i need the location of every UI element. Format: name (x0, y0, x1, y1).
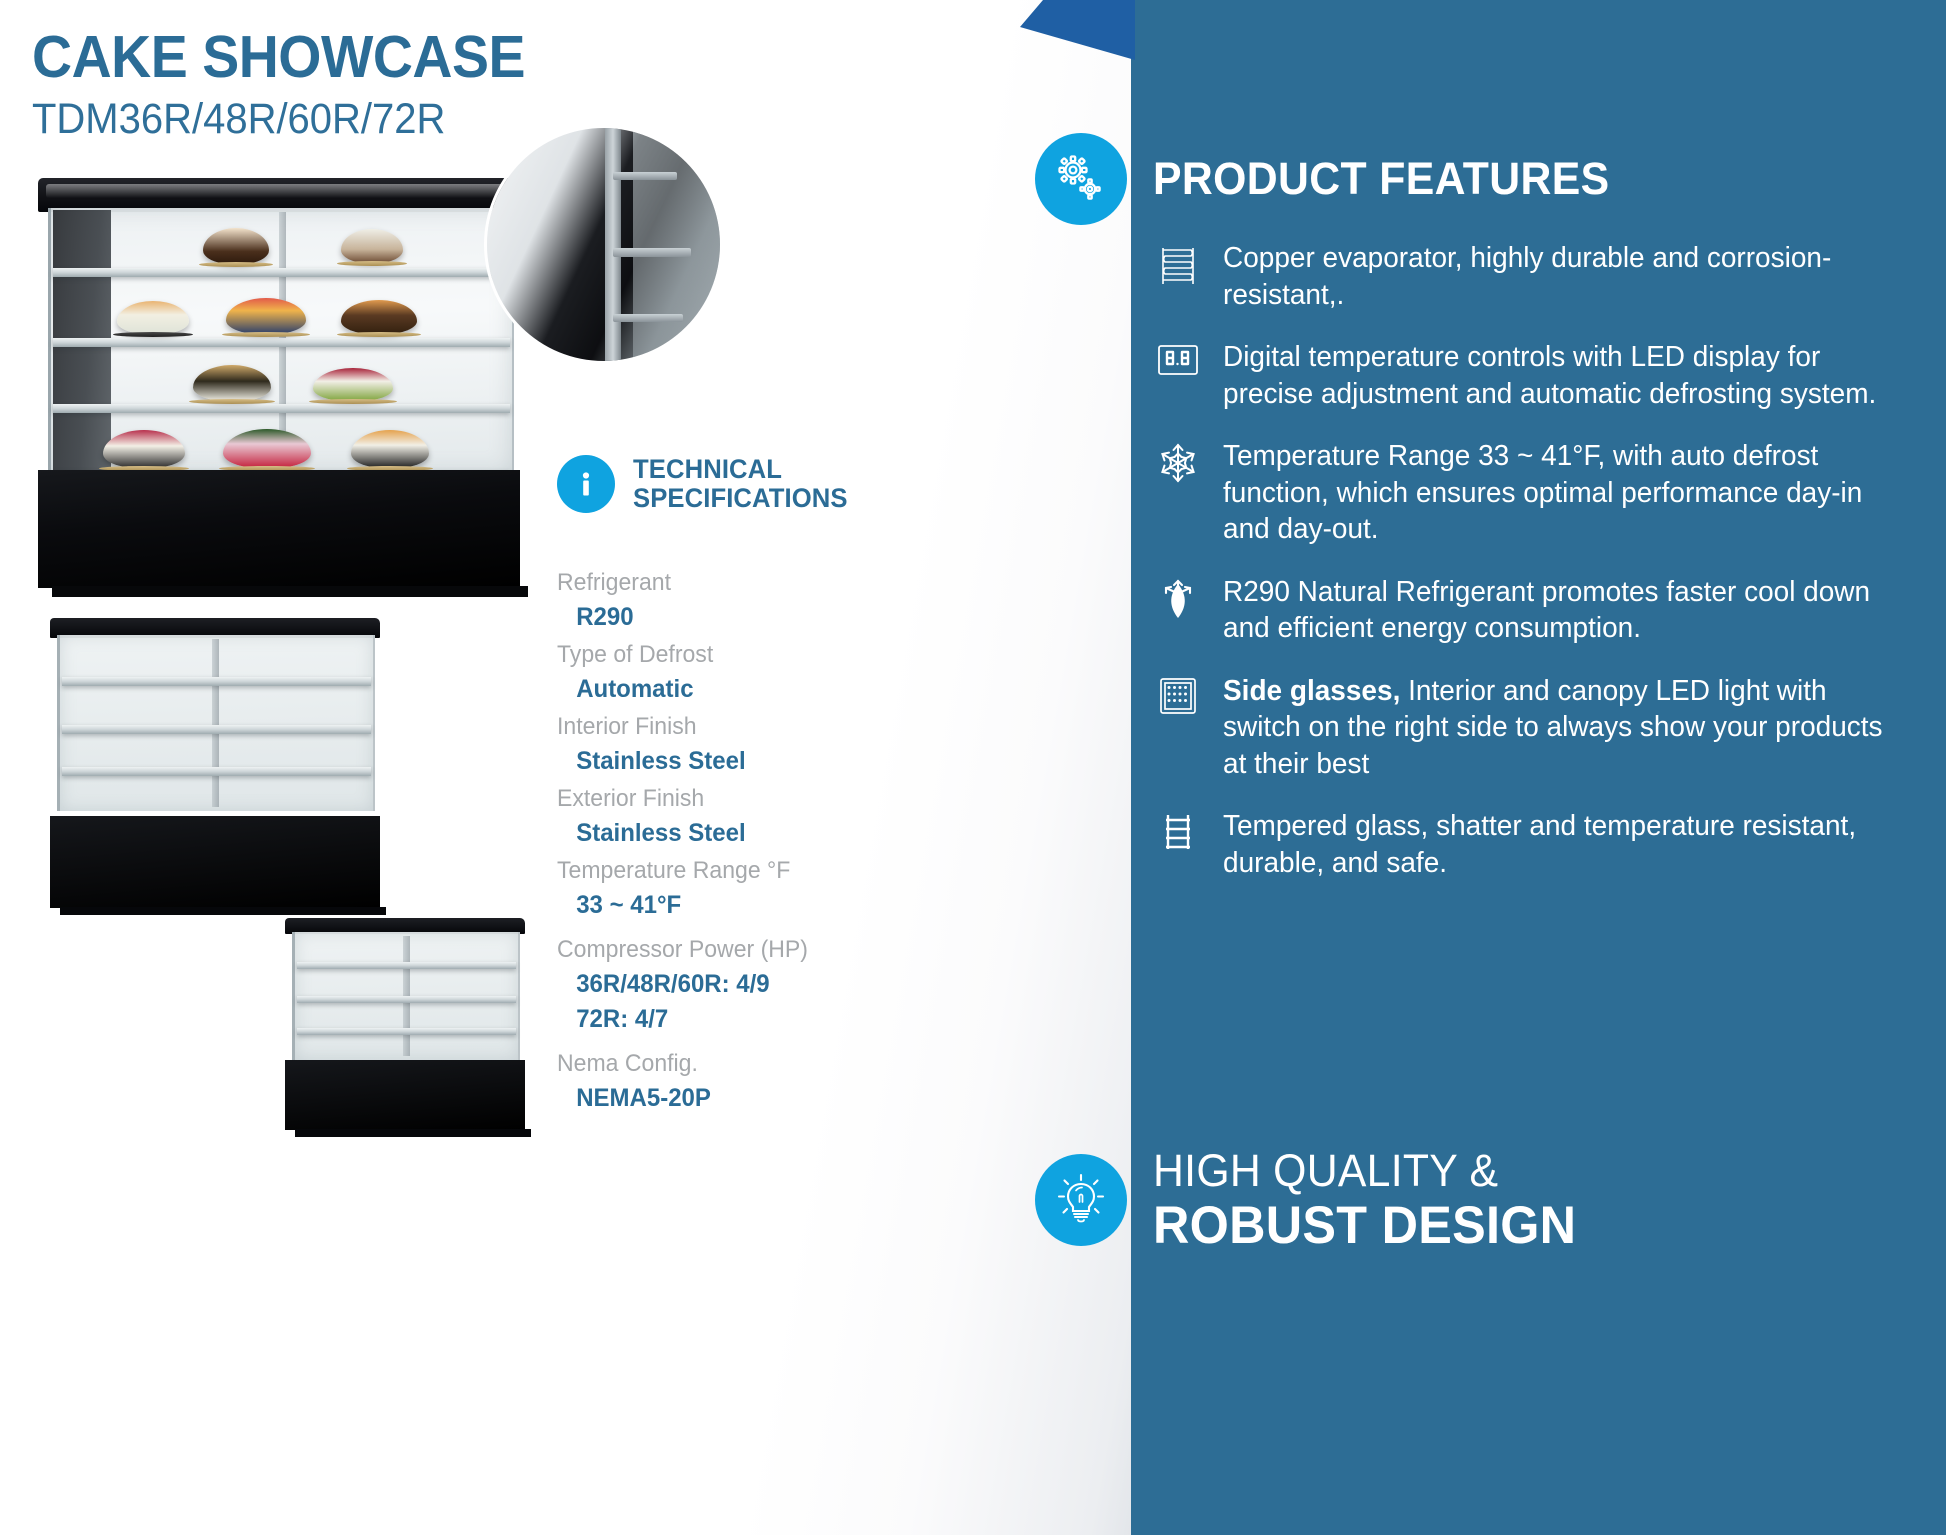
case-shelf (53, 404, 510, 413)
gears-icon (1035, 133, 1127, 225)
cake-plate (113, 332, 193, 337)
cake (313, 368, 393, 401)
shelf-bracket-detail-inset (487, 128, 720, 361)
spec-label: Interior Finish (557, 709, 874, 744)
cake-plate (309, 399, 397, 404)
technical-specifications-title: TECHNICAL SPECIFICATIONS (633, 455, 848, 513)
spec-row: Type of Defrost Automatic (557, 637, 887, 707)
cake (117, 301, 189, 334)
spec-row: Compressor Power (HP) 36R/48R/60R: 4/9 7… (557, 932, 887, 1037)
feature-text: R290 Natural Refrigerant promotes faster… (1223, 574, 1891, 647)
feature-text: Tempered glass, shatter and temperature … (1223, 808, 1891, 881)
spec-row: Exterior Finish Stainless Steel (557, 781, 887, 851)
feature-item: Tempered glass, shatter and temperature … (1155, 808, 1915, 881)
quality-line-1: HIGH QUALITY & (1153, 1148, 1576, 1193)
case-canopy (38, 178, 520, 212)
cake-plate (222, 332, 310, 337)
case-shelf (62, 725, 371, 734)
product-features-header: PRODUCT FEATURES (1035, 133, 1634, 225)
product-features-title: PRODUCT FEATURES (1153, 153, 1610, 205)
lightbulb-icon (1035, 1154, 1127, 1246)
case-base-cabinet (50, 816, 380, 908)
spec-row: Temperature Range °F 33 ~ 41°F (557, 853, 887, 923)
spec-label: Temperature Range °F (557, 853, 874, 888)
cake (341, 229, 403, 263)
spec-value: R290 (557, 600, 874, 635)
feature-item: R290 Natural Refrigerant promotes faster… (1155, 574, 1915, 647)
detail-glass-pane (633, 128, 720, 361)
feature-text-bold: Side glasses, (1223, 675, 1400, 707)
feature-text: Digital temperature controls with LED di… (1223, 339, 1891, 412)
case-shelf (297, 996, 516, 1003)
spec-label: Exterior Finish (557, 781, 874, 816)
case-center-divider (212, 639, 219, 807)
cake-plate (199, 262, 273, 267)
secondary-product-image (50, 618, 380, 908)
spec-value: 36R/48R/60R: 4/9 72R: 4/7 (557, 967, 874, 1037)
case-shelf (297, 962, 516, 969)
cake (103, 430, 185, 468)
quality-text-block: HIGH QUALITY & ROBUST DESIGN (1153, 1148, 1599, 1252)
technical-specifications-section: TECHNICAL SPECIFICATIONS Refrigerant R29… (557, 455, 887, 1118)
hero-product-image (38, 178, 520, 588)
case-base-cabinet (38, 470, 520, 588)
snowflake-icon (1155, 438, 1201, 484)
spec-value: 33 ~ 41°F (557, 888, 874, 923)
spec-value: NEMA5-20P (557, 1081, 874, 1116)
evaporator-coil-icon (1155, 240, 1201, 286)
detail-upright-post (605, 128, 621, 361)
cake (223, 429, 311, 468)
quality-section: HIGH QUALITY & ROBUST DESIGN (1035, 1148, 1599, 1252)
spec-label: Compressor Power (HP) (557, 932, 874, 967)
tertiary-product-image (285, 918, 525, 1130)
cake (351, 430, 429, 468)
feature-item: Digital temperature controls with LED di… (1155, 339, 1915, 412)
specifications-list: Refrigerant R290 Type of Defrost Automat… (557, 565, 887, 1116)
case-shelf (297, 1028, 516, 1035)
model-numbers: TDM36R/48R/60R/72R (32, 98, 445, 141)
feature-text: Copper evaporator, highly durable and co… (1223, 240, 1891, 313)
info-icon (557, 455, 615, 513)
tempered-glass-shelves-icon (1155, 808, 1201, 854)
feature-item: Side glasses, Interior and canopy LED li… (1155, 673, 1915, 783)
cake (203, 228, 269, 264)
feature-text: Temperature Range 33 ~ 41°F, with auto d… (1223, 438, 1891, 548)
digital-display-icon (1155, 339, 1201, 385)
spec-row: Refrigerant R290 (557, 565, 887, 635)
spec-value: Stainless Steel (557, 816, 874, 851)
detail-bracket (613, 248, 691, 257)
case-shelf (53, 268, 510, 277)
cake (226, 298, 306, 334)
feature-item: Copper evaporator, highly durable and co… (1155, 240, 1915, 313)
case-shelf (53, 338, 510, 347)
case-base-cabinet (285, 1060, 525, 1130)
spec-label: Nema Config. (557, 1046, 874, 1081)
case-shelf (62, 677, 371, 686)
case-shelf (62, 767, 371, 776)
spec-row: Nema Config. NEMA5-20P (557, 1046, 887, 1116)
quality-line-2: ROBUST DESIGN (1153, 1199, 1576, 1252)
case-glass-enclosure (48, 208, 514, 476)
case-glass-enclosure (292, 932, 520, 1060)
page-title: CAKE SHOWCASE (32, 28, 525, 87)
cake (193, 365, 271, 401)
case-glass-enclosure (57, 635, 375, 811)
cake-plate (337, 332, 421, 337)
eco-leaf-snowflake-icon (1155, 574, 1201, 620)
cake (341, 300, 417, 334)
product-features-list: Copper evaporator, highly durable and co… (1155, 240, 1915, 907)
glass-panel-grid-icon (1155, 673, 1201, 719)
spec-row: Interior Finish Stainless Steel (557, 709, 887, 779)
cake-plate (189, 399, 275, 404)
spec-label: Refrigerant (557, 565, 874, 600)
cake-plate (337, 261, 407, 266)
detail-bracket (613, 314, 683, 322)
detail-bracket (613, 172, 677, 180)
feature-text: Side glasses, Interior and canopy LED li… (1223, 673, 1891, 783)
spec-label: Type of Defrost (557, 637, 874, 672)
spec-value: Automatic (557, 672, 874, 707)
feature-item: Temperature Range 33 ~ 41°F, with auto d… (1155, 438, 1915, 548)
spec-value: Stainless Steel (557, 744, 874, 779)
technical-specifications-header: TECHNICAL SPECIFICATIONS (557, 455, 887, 513)
